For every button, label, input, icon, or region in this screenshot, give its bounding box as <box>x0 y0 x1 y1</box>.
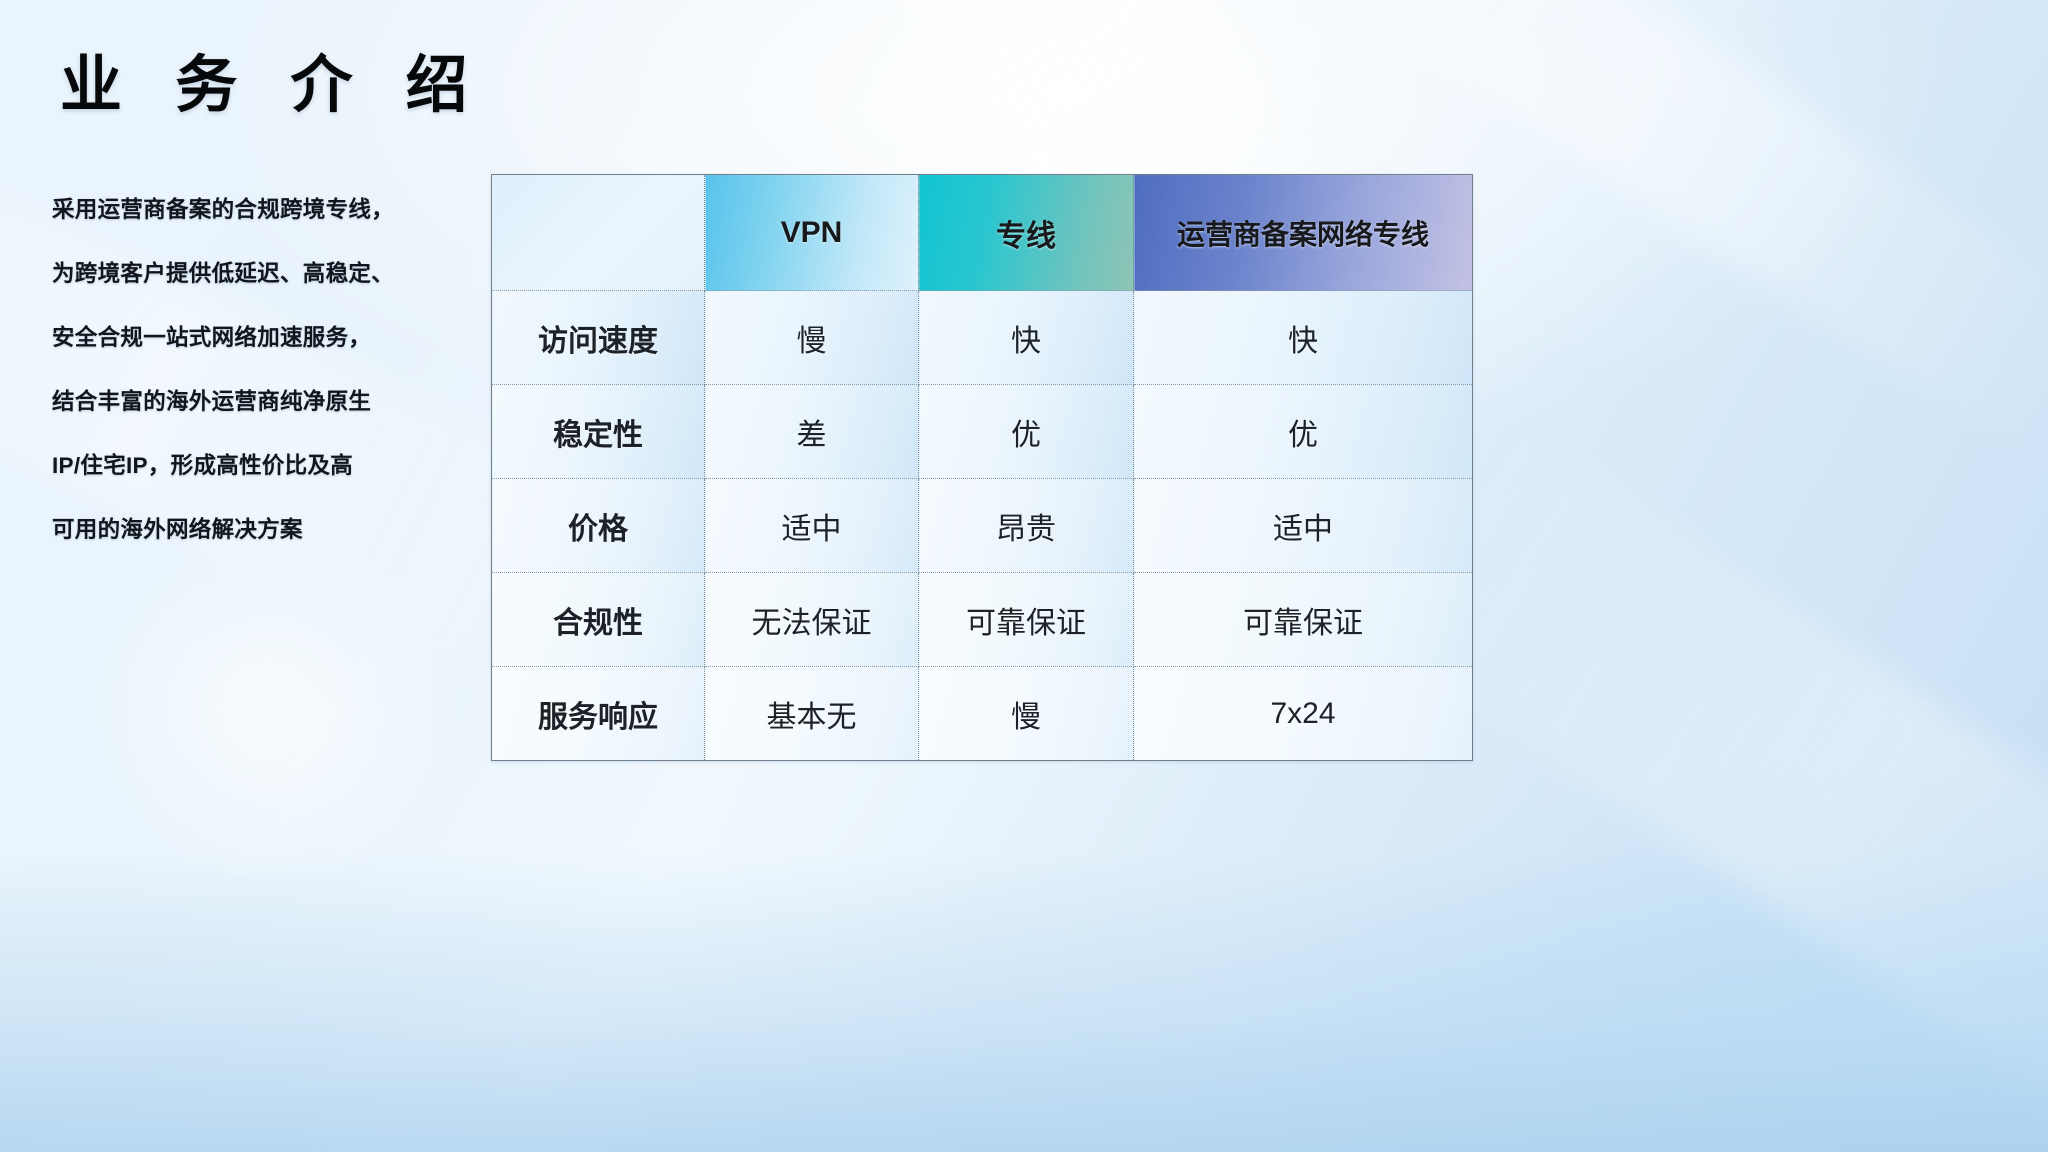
table-header-label: 运营商备案网络专线 <box>1177 219 1429 250</box>
cell-text: 可靠保证 <box>1243 607 1363 640</box>
table-cell: 适中 <box>1134 479 1473 573</box>
table-cell: 基本无 <box>705 667 919 761</box>
table-cell: 慢 <box>705 291 919 385</box>
cell-text: 差 <box>797 419 827 452</box>
cell-text: 优 <box>1011 419 1041 452</box>
table-cell: 可靠保证 <box>919 573 1134 667</box>
row-label-text: 合规性 <box>553 607 643 640</box>
table-row: 访问速度 慢 快 快 <box>492 291 1473 385</box>
table-cell: 快 <box>1134 291 1473 385</box>
table-header-label: 专线 <box>996 220 1056 253</box>
table-cell: 可靠保证 <box>1134 573 1473 667</box>
table-cell: 优 <box>1134 385 1473 479</box>
intro-line: 结合丰富的海外运营商纯净原生 <box>52 370 482 434</box>
cell-text: 7x24 <box>1270 697 1335 730</box>
table-header-row: VPN 专线 运营商备案网络专线 <box>492 175 1473 291</box>
cell-text: 慢 <box>1011 701 1041 734</box>
row-label-text: 服务响应 <box>538 701 658 734</box>
row-label-text: 访问速度 <box>538 325 658 358</box>
table-header-operator-network: 运营商备案网络专线 <box>1134 175 1473 291</box>
table-cell: 慢 <box>919 667 1134 761</box>
table-header-label: VPN <box>781 216 843 249</box>
row-label: 稳定性 <box>492 385 705 479</box>
table-row: 合规性 无法保证 可靠保证 可靠保证 <box>492 573 1473 667</box>
intro-paragraph: 采用运营商备案的合规跨境专线， 为跨境客户提供低延迟、高稳定、 安全合规一站式网… <box>52 178 482 562</box>
table-cell: 适中 <box>705 479 919 573</box>
cell-text: 快 <box>1011 325 1041 358</box>
table-row: 稳定性 差 优 优 <box>492 385 1473 479</box>
row-label-text: 稳定性 <box>553 419 643 452</box>
table-cell: 7x24 <box>1134 667 1473 761</box>
cell-text: 优 <box>1288 419 1318 452</box>
intro-line: 为跨境客户提供低延迟、高稳定、 <box>52 242 482 306</box>
page-title: 业 务 介 绍 <box>60 52 486 120</box>
intro-line: IP/住宅IP，形成高性价比及高 <box>52 434 482 498</box>
row-label: 服务响应 <box>492 667 705 761</box>
row-label: 价格 <box>492 479 705 573</box>
table-header-dedicated-line: 专线 <box>919 175 1134 291</box>
cell-text: 可靠保证 <box>966 607 1086 640</box>
cell-text: 适中 <box>1273 513 1333 546</box>
cell-text: 昂贵 <box>996 513 1056 546</box>
cell-text: 快 <box>1288 325 1318 358</box>
intro-line: 可用的海外网络解决方案 <box>52 498 482 562</box>
table-cell: 昂贵 <box>919 479 1134 573</box>
row-label: 访问速度 <box>492 291 705 385</box>
cell-text: 基本无 <box>767 701 857 734</box>
slide-content: 业 务 介 绍 采用运营商备案的合规跨境专线， 为跨境客户提供低延迟、高稳定、 … <box>0 0 2048 1152</box>
cell-text: 无法保证 <box>752 607 872 640</box>
cell-text: 慢 <box>797 325 827 358</box>
table-cell: 快 <box>919 291 1134 385</box>
row-label: 合规性 <box>492 573 705 667</box>
comparison-table: VPN 专线 运营商备案网络专线 访问速度 慢 快 快 稳定性 差 优 <box>491 174 1473 761</box>
intro-line: 安全合规一站式网络加速服务， <box>52 306 482 370</box>
table-cell: 差 <box>705 385 919 479</box>
cell-text: 适中 <box>782 513 842 546</box>
table-row: 价格 适中 昂贵 适中 <box>492 479 1473 573</box>
table-header-vpn: VPN <box>705 175 919 291</box>
table-cell: 无法保证 <box>705 573 919 667</box>
intro-line: 采用运营商备案的合规跨境专线， <box>52 178 482 242</box>
table-cell: 优 <box>919 385 1134 479</box>
table-row: 服务响应 基本无 慢 7x24 <box>492 667 1473 761</box>
table-header-blank <box>492 175 705 291</box>
row-label-text: 价格 <box>568 513 628 546</box>
